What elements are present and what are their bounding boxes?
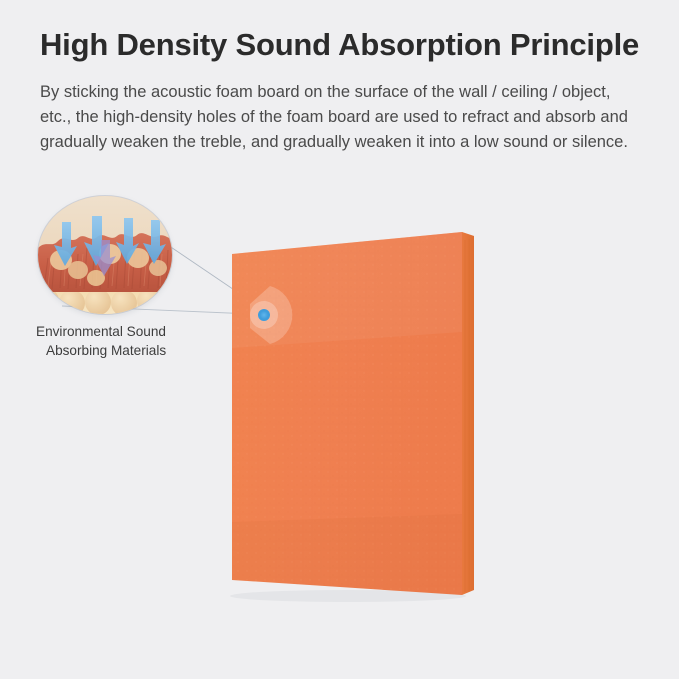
- description-text: By sticking the acoustic foam board on t…: [40, 80, 642, 155]
- caption-line-1: Environmental Sound: [36, 324, 166, 339]
- panel-zoom-marker-dot[interactable]: [238, 298, 264, 324]
- magnifier-callout: [38, 196, 172, 314]
- incoming-sound-waveform-icon: [0, 368, 330, 438]
- page-title: High Density Sound Absorption Principle: [40, 27, 650, 63]
- infographic-canvas: High Density Sound Absorption Principle …: [0, 0, 679, 679]
- caption-line-2: Absorbing Materials: [36, 341, 246, 360]
- attenuated-sound-waveform-icon: [470, 398, 679, 432]
- magnifier-caption: Environmental Sound Absorbing Materials: [36, 322, 246, 361]
- magnified-foam-microstructure-icon: [38, 196, 172, 314]
